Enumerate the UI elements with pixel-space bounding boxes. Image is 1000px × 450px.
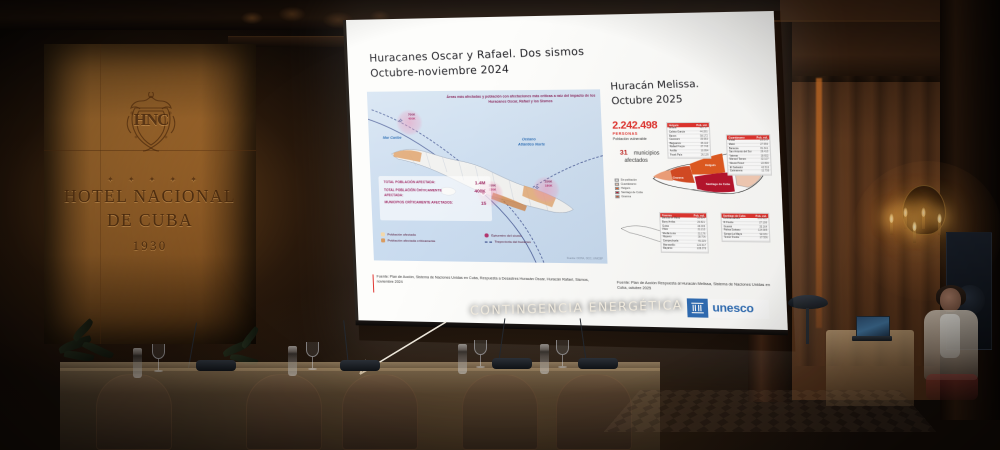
panel-table [60,368,660,450]
svg-text:Santiago de Cuba: Santiago de Cuba [706,182,731,186]
sconce-arm-4 [938,221,941,235]
laptop-keyboard[interactable] [852,336,892,341]
sconce-flame-5 [912,221,917,231]
unesco-temple-icon [687,298,709,317]
legend-label: Trayectoria del huracán [495,240,531,244]
legend-label: Santiago de Cuba [621,191,643,194]
sea-label-oceano: Océano [522,137,536,141]
sconce-arm-2 [904,215,907,229]
table-row: Caimanera11.730 [728,170,770,174]
sconce-arm-5 [913,229,916,243]
legend-item: Sin población [615,179,643,182]
conference-room-scene: HNC ✦✦✦✦✦ HOTEL NACIONAL DE CUBA 1930 [0,0,1000,450]
tripod-lamp-shade [788,295,828,309]
footer-accent-left [373,274,375,292]
marker-label-pinar: 700K 400K [408,113,416,121]
granma-data-table: GranmaPob. vul.Bartolomé Masó51.934Buey … [659,212,709,253]
tripod-lamp-stem [806,308,809,344]
sconce-flame-1 [889,213,894,223]
laptop-screen[interactable] [856,316,890,337]
sea-label-atlantico: Atlántico Norte [518,142,545,146]
legend-swatch-granma [615,195,619,198]
wine-glass-3[interactable] [474,340,487,370]
svg-text:Holguín: Holguín [705,163,716,167]
marker-guantanamo: ✧ 250K 180K [532,176,560,203]
table-row: Bayamo228.376 [662,248,708,252]
attendee-head [940,288,961,312]
microphone-base-2[interactable] [340,360,380,371]
water-bottle-4[interactable] [540,344,549,374]
right-melissa-panel: 2.242.498 PERSONAS Población vulnerable … [610,113,777,270]
legend-swatch-criticamente [381,238,385,242]
sconce-arm-1 [890,221,893,235]
svg-text:Granma: Granma [673,175,684,179]
legend-label: Sin población [621,179,637,182]
sconce-flame-3 [921,207,926,217]
sconce-arm-3 [922,215,925,229]
microphone-base-1[interactable] [196,360,236,371]
left-stats-box: TOTAL POBLACIÓN AFECTADA: 1.4M TOTAL POB… [378,176,492,221]
santiago-data-table: Santiago de CubaPob. vul.Contramaestre10… [720,212,770,242]
vulnerable-population-caption: Población vulnerable [613,136,647,140]
marker-label-guantanamo: 250K 180K [545,180,553,188]
municipios-word-2: afectados [624,158,648,164]
vulnerable-population-unit: PERSONAS [613,132,638,136]
municipios-count: 31 [620,149,628,156]
attendee-shirt [940,314,960,358]
table-row: Tercer Frente27.556 [723,237,770,241]
plaque-line-1: HOTEL NACIONAL [54,186,246,208]
tiled-floor [604,390,937,432]
legend-label: Granma [621,195,631,198]
attendee-lap [926,374,978,400]
microphone-base-4[interactable] [578,358,618,369]
legend-swatch-guantanamo [615,183,619,186]
wine-glass-4[interactable] [556,340,569,370]
sconce-flame-2 [903,207,908,217]
holguin-data-table: HolguínPob. vul.Gibara49.717Calixto Garc… [666,122,711,159]
stat-row: TOTAL POBLACIÓN AFECTADA: 1.4M [384,180,486,185]
stat-label: TOTAL POBLACIÓN AFECTADA: [384,180,459,185]
legend-swatch-sin-poblacion [615,179,619,182]
wine-glass-2[interactable] [306,342,319,372]
legend-label: Población afectada críticamente [388,238,436,243]
curtain-stripe [816,78,822,328]
legend-item: Santiago de Cuba [615,191,643,194]
hotel-crest-icon: HNC [123,92,179,154]
legend-dot-epicentro [484,233,488,237]
footer-source-left: Fuente: Plan de Acción, Sistema de Nacio… [377,274,605,289]
legend-swatch-santiago [615,191,619,194]
left-map-credit: Fuente: OCHA, OCC, UNICEF [567,257,603,261]
stat-value: 400K [474,189,486,194]
wine-glass-1[interactable] [152,344,165,374]
legend-label: Holguín [621,187,630,190]
legend-item: Epicentro del sismo [484,233,580,238]
hotel-plaque-text: HOTEL NACIONAL DE CUBA 1930 [54,186,246,254]
legend-label: Guantánamo [621,183,637,186]
sea-label-caribe: Mar Caribe [383,136,402,140]
legend-item: Población afectada [381,232,475,237]
plaque-line-2: DE CUBA [54,210,246,232]
microphone-base-3[interactable] [492,358,532,369]
table-row: Frank País26.139 [668,154,710,158]
crest-initials: HNC [123,110,179,130]
slide-title-right: Huracán Melissa. Octubre 2025 [610,75,765,109]
legend-item: Holguín [615,187,643,190]
stat-row: MUNICIPIOS CRÍTICAMENTE AFECTADOS: 15 [384,200,486,206]
legend-line-trayectoria [485,241,492,242]
stat-label: MUNICIPIOS CRÍTICAMENTE AFECTADOS: [384,200,459,205]
seated-attendee [922,288,982,406]
stat-row: TOTAL POBLACIÓN CRÍTICAMENTE AFECTADA: 4… [384,188,486,197]
footer-source-right: Fuente: Plan de Acción Respuesta al Hura… [617,280,777,294]
legend-label: Población afectada [387,232,416,236]
sconce-flame-4 [937,213,942,223]
unesco-wordmark: unesco [708,299,770,319]
slide-title-left: Huracanes Oscar y Rafael. Dos sismos Oct… [369,43,630,82]
water-bottle-1[interactable] [133,348,142,378]
guantanamo-data-table: GuantánamoPob. vul.Imías19.378Maisí27.55… [726,134,772,175]
melissa-legend: Sin población Guantánamo Holguín Santiag… [615,179,643,200]
stat-value: 1.4M [475,180,486,185]
water-bottle-3[interactable] [458,344,467,374]
plaque-stars: ✦✦✦✦✦ [107,176,197,184]
marker-pinar-del-rio: ✧ 700K 400K [396,109,423,135]
legend-item: Guantánamo [615,183,643,186]
slide-surface: Huracanes Oscar y Rafael. Dos sismos Oct… [346,11,788,330]
legend-swatch-poblacion-afectada [381,232,385,236]
legend-swatch-holguin [615,187,619,190]
stat-value: 15 [481,201,487,206]
legend-label: Epicentro del sismo [491,233,522,237]
legend-item: Granma [615,195,643,198]
left-map-panel: Áreas más afectadas y población con afec… [367,89,608,263]
stat-label: TOTAL POBLACIÓN CRÍTICAMENTE AFECTADA: [384,188,459,197]
unesco-logo: unesco [687,298,770,319]
plaque-line-3: 1930 [54,238,246,254]
water-bottle-2[interactable] [288,346,297,376]
